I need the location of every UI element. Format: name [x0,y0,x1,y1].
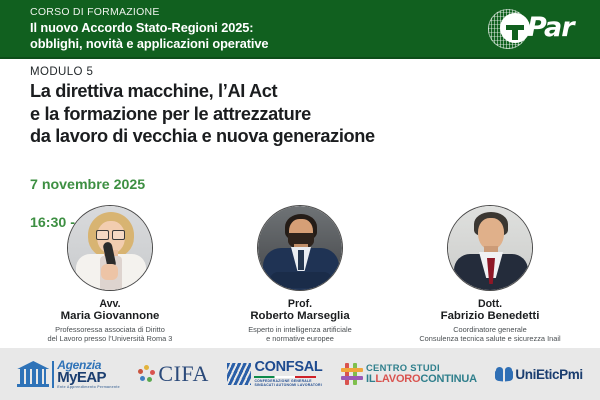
speaker-honorific: Prof. [214,298,386,310]
page-title: La direttiva macchine, l’AI Act e la for… [30,80,570,148]
unieticpmi-text: UniEticPmi [515,367,582,382]
hash-grid-icon [341,363,363,385]
confsal-subtitle: CONFEDERAZIONE GENERALE SINDACATI AUTONO… [254,379,322,388]
epar-logo[interactable]: Par [486,8,582,50]
header-text-block: CORSO DI FORMAZIONE Il nuovo Accordo Sta… [30,6,268,51]
header-divider [0,57,600,59]
module-label: MODULO 5 [30,66,93,78]
portrait-roberto-marseglia [258,206,342,290]
letter-e-icon [500,13,530,43]
event-date: 7 novembre 2025 [30,176,145,195]
avatar [447,205,533,291]
speaker-honorific: Dott. [404,298,576,310]
speaker-honorific: Avv. [24,298,196,310]
myeap-line2: MyEAP [57,370,120,385]
avatar [67,205,153,291]
divider [52,361,54,388]
open-book-icon [495,367,513,381]
centro-line1: CENTRO STUDI [366,363,477,372]
speaker-name: Maria Giovannone [24,310,196,323]
epar-wordmark: Par [500,10,584,48]
header-course-title: Il nuovo Accordo Stato-Regioni 2025: obb… [30,20,268,51]
header-kicker: CORSO DI FORMAZIONE [30,6,268,19]
speaker-name: Roberto Marseglia [214,310,386,323]
centro-line2-b: LAVORO [375,373,420,385]
cifa-text: CIFA [158,363,209,385]
speaker-card: Avv. Maria Giovannone Professoressa asso… [24,205,196,343]
italian-flag-icon [254,376,316,378]
logo-agenzia-myeap[interactable]: Agenzia MyEAP Ente Apprendimento Permane… [17,359,120,390]
myeap-line3: Ente Apprendimento Permanente [57,386,120,390]
centro-line2-a: IL [366,373,375,385]
portrait-maria-giovannone [68,206,152,290]
logo-centro-studi[interactable]: CENTRO STUDI ILLAVOROCONTINUA [341,363,477,385]
training-course-poster: CORSO DI FORMAZIONE Il nuovo Accordo Sta… [0,0,600,400]
speakers-list: Avv. Maria Giovannone Professoressa asso… [24,205,576,343]
speaker-card: Prof. Roberto Marseglia Esperto in intel… [214,205,386,343]
portrait-fabrizio-benedetti [448,206,532,290]
poster-header: CORSO DI FORMAZIONE Il nuovo Accordo Sta… [0,0,600,57]
logo-confsal[interactable]: CONFSAL CONFEDERAZIONE GENERALE SINDACAT… [227,360,322,387]
speaker-role: Professoressa associata di Diritto del L… [24,325,196,343]
speaker-role: Coordinatore generale Consulenza tecnica… [404,325,576,343]
speaker-card: Dott. Fabrizio Benedetti Coordinatore ge… [404,205,576,343]
avatar [257,205,343,291]
confsal-text: CONFSAL [254,360,322,375]
speaker-name: Fabrizio Benedetti [404,310,576,323]
logo-unieticpmi[interactable]: UniEticPmi [495,367,582,382]
partner-logos-bar: Agenzia MyEAP Ente Apprendimento Permane… [0,348,600,400]
slashes-icon [227,363,251,385]
logo-cifa[interactable]: CIFA [138,363,209,385]
centro-line2-c: CONTINUA [420,373,476,385]
speaker-role: Esperto in intelligenza artificiale e no… [214,325,386,343]
temple-icon [17,359,49,389]
dots-circle-icon [138,365,156,383]
epar-logo-text: Par [527,12,574,44]
